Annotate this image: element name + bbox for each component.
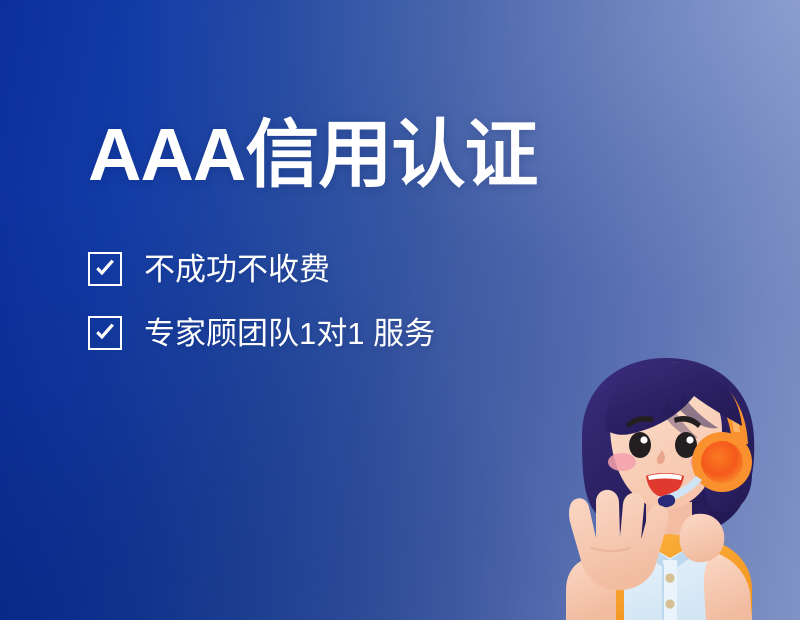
eyebrow-left [626,416,654,428]
hair-side-bun [704,438,752,512]
hair-front [606,362,742,435]
mic-boom [658,476,702,504]
neck [646,502,692,564]
shirt-button [665,573,674,582]
hand-crease [592,548,630,551]
face [610,378,722,510]
checkmark-icon [93,257,117,281]
blush-right [690,453,718,471]
list-item-label: 不成功不收费 [144,254,330,285]
hair-strand [662,398,698,438]
eye-highlight [686,436,693,443]
customer-service-agent-illustration [470,352,800,620]
headset-earpiece-inner [701,441,743,483]
page-title: AAA信用认证 [88,118,648,192]
eye-right [675,432,697,458]
shirt-placket [663,560,677,620]
list-item: 不成功不收费 [88,252,435,286]
banner-copy: AAA信用认证 不成功不收费 专家顾团队1对1 服务 [88,118,648,192]
nose [657,450,665,464]
jacket [590,534,752,620]
shirt-button [665,599,674,608]
shirt [624,542,716,620]
checkmark-icon [93,321,117,345]
checkbox-checked [88,252,122,286]
list-item: 专家顾团队1对1 服务 [88,316,435,350]
eye-highlight [640,436,647,443]
eyebrow-right [674,416,701,428]
headset-earpiece [692,432,752,492]
blush-left [608,453,636,471]
arm-left [566,554,616,620]
hand-right [680,514,725,563]
mouth [646,473,684,497]
teeth [648,474,682,480]
feature-list: 不成功不收费 专家顾团队1对1 服务 [88,252,435,350]
hair-strand [680,394,718,428]
mic-tip [658,495,675,508]
hand-left [569,490,669,590]
checkbox-checked [88,316,122,350]
hair-back [582,358,754,540]
eye-left [629,432,651,458]
arm-right [704,552,752,620]
headset-band-highlight [672,365,740,432]
headset-band [668,362,748,444]
credit-certification-banner: AAA信用认证 不成功不收费 专家顾团队1对1 服务 [0,0,800,620]
shirt-collar [632,540,708,572]
list-item-label: 专家顾团队1对1 服务 [144,318,435,349]
